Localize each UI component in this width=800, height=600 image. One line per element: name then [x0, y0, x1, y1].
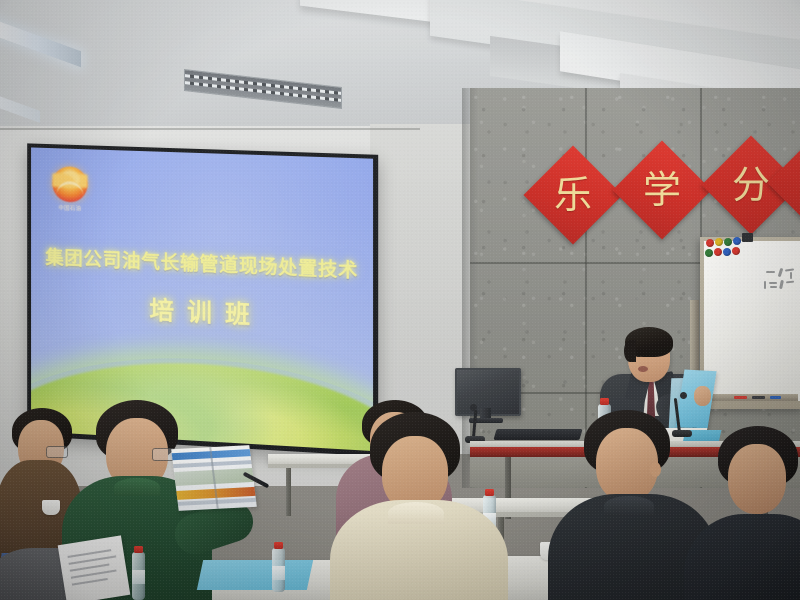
- whiteboard-surface[interactable]: [704, 241, 800, 401]
- bottle-cap: [274, 542, 283, 549]
- bottle-label: [132, 570, 145, 584]
- wall-placard-le: 乐: [524, 146, 623, 245]
- bottle-label: [272, 566, 285, 580]
- attendee-dark-suit-right: [684, 418, 800, 600]
- whiteboard-marker[interactable]: [734, 396, 747, 399]
- attendee-cream-jacket: [330, 408, 510, 600]
- whiteboard-marker[interactable]: [752, 396, 765, 399]
- printed-document: [58, 535, 131, 600]
- bottle-cap: [134, 546, 143, 553]
- attendee-collar: [114, 478, 160, 496]
- attendee-head: [596, 428, 658, 502]
- whiteboard-marker[interactable]: [770, 396, 781, 399]
- bottle-cap: [600, 398, 609, 405]
- water-bottle: [132, 552, 145, 600]
- whiteboard-magnet[interactable]: [715, 238, 723, 246]
- whiteboard-magnet[interactable]: [714, 248, 722, 256]
- attendee-collar: [388, 502, 444, 524]
- attendee-ear: [650, 462, 661, 477]
- wall-seam: [0, 128, 420, 130]
- wall-placard-xue: 学: [613, 141, 712, 240]
- photo-scene: 中国石油 集团公司油气长输管道现场处置技术 培训班 乐 学 分 享: [0, 0, 800, 600]
- logo-caption: 中国石油: [50, 203, 89, 212]
- attendee-torso: [684, 514, 800, 600]
- placard-char: 享: [782, 148, 800, 218]
- microphone-head: [680, 392, 687, 399]
- petrochina-logo: 中国石油: [50, 166, 89, 215]
- brochure: [171, 445, 257, 511]
- whiteboard-marker-tray: [708, 394, 798, 401]
- whiteboard-magnet[interactable]: [706, 239, 714, 247]
- whiteboard-magnet[interactable]: [732, 247, 740, 255]
- presenter-hair: [624, 340, 636, 362]
- blue-document: [197, 560, 313, 590]
- presenter-mouth: [638, 366, 648, 372]
- whiteboard-magnet[interactable]: [724, 238, 732, 246]
- whiteboard-handwriting: [764, 267, 800, 293]
- paper-cup: [42, 500, 60, 515]
- placard-char: 学: [627, 155, 697, 225]
- whiteboard-magnet[interactable]: [723, 248, 731, 256]
- attendee-collar: [604, 496, 654, 516]
- whiteboard-magnet[interactable]: [705, 249, 713, 257]
- whiteboard-magnet[interactable]: [733, 237, 741, 245]
- whiteboard-clip[interactable]: [742, 233, 753, 242]
- whiteboard[interactable]: [700, 237, 800, 409]
- presenter-hand: [694, 386, 711, 406]
- placard-char: 乐: [538, 160, 608, 230]
- audience-table-leg: [286, 468, 291, 516]
- water-bottle: [272, 548, 285, 592]
- attendee-head: [728, 444, 786, 514]
